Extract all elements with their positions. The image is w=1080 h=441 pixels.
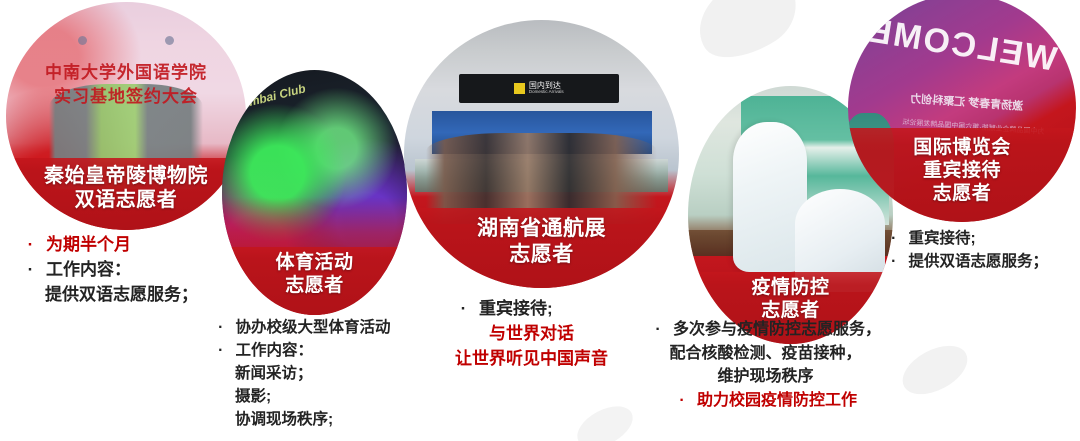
backdrop-line-2: 实习基地签约大会 (25, 85, 227, 108)
bullet-dot-icon: · (455, 296, 472, 321)
expo-slogan-text: 激扬青春梦 汇聚科创力 (880, 88, 1054, 116)
slide-canvas: 中南大学外国语学院 实习基地签约大会 秦始皇帝陵博物院 双语志愿者 Cambai… (0, 0, 1080, 441)
bullet-item: · 多次参与疫情防控志愿服务， (650, 318, 881, 342)
bubble-caption-hunan-expo: 湖南省通航展 志愿者 (404, 208, 679, 288)
bubble-caption-international-expo: 国际博览会 重宾接待 志愿者 (848, 128, 1076, 222)
photo-bubble-international-expo: WELCOME 激扬青春梦 汇聚科创力 为中国品牌企业赋能·第六届中国品牌发展论… (848, 0, 1076, 222)
caption-line-2: 重宾接待 (850, 159, 1074, 182)
bullet-dot-icon: · (650, 318, 666, 342)
backdrop-line-1: 中南大学外国语学院 (25, 61, 227, 84)
bullet-subtext: 维护现场秩序 (650, 365, 881, 389)
bullet-text: 多次参与疫情防控志愿服务， (673, 318, 881, 342)
bullet-block-hunan-expo: · 重宾接待; 与世界对话 让世界听见中国声音 (455, 296, 608, 371)
bullet-dot-icon: · (22, 232, 39, 257)
bullet-item: · 助力校园疫情防控工作 (650, 389, 881, 413)
airport-signboard: 国内到达 Domestic Arrivals (459, 74, 619, 103)
bullet-text: 重宾接待; (479, 296, 553, 321)
bullet-item: · 重宾接待; (455, 296, 608, 321)
bullet-text: 工作内容： (236, 340, 314, 363)
bullet-item: · 协办校级大型体育活动 (213, 317, 391, 340)
bullet-subtext: 新闻采访； (213, 363, 391, 386)
bullet-item: · 工作内容： (22, 257, 198, 282)
bullet-subtext: 提供双语志愿服务； (22, 282, 198, 307)
caption-line-1: 体育活动 (224, 251, 405, 274)
bullet-block-qin-museum: · 为期半个月 · 工作内容： 提供双语志愿服务； (22, 232, 198, 307)
bullet-text: 提供双语志愿服务； (909, 251, 1049, 274)
bullet-text: 为期半个月 (46, 232, 131, 257)
highlight-line: 让世界听见中国声音 (455, 346, 608, 371)
photo-bubble-qin-museum: 中南大学外国语学院 实习基地签约大会 秦始皇帝陵博物院 双语志愿者 (6, 2, 246, 230)
bullet-text: 重宾接待; (909, 228, 976, 251)
logo-qin-museum (78, 36, 87, 45)
backdrop-banner-text: 中南大学外国语学院 实习基地签约大会 (25, 61, 227, 108)
decorative-blob-top (684, 0, 810, 75)
caption-line-2: 双语志愿者 (8, 188, 244, 212)
caption-line-2: 志愿者 (224, 274, 405, 297)
caption-line-2: 志愿者 (406, 242, 677, 268)
photo-bubble-hunan-expo: 国内到达 Domestic Arrivals 湖南省通航展 志愿者 (404, 20, 679, 288)
bullet-item: · 重宾接待; (886, 228, 1048, 251)
backdrop-logos (40, 36, 213, 45)
logo-mark-icon (78, 36, 87, 45)
bullet-dot-icon: · (213, 317, 229, 340)
caption-line-1: 疫情防控 (690, 276, 891, 299)
bullet-dot-icon: · (213, 340, 229, 363)
bullet-item: · 提供双语志愿服务； (886, 251, 1048, 274)
sign-pictogram-icon (514, 83, 525, 94)
highlight-line: 与世界对话 (455, 321, 608, 346)
bullet-block-international-expo: · 重宾接待; · 提供双语志愿服务； (886, 228, 1048, 274)
bullet-dot-icon: · (674, 389, 690, 413)
photo-bubble-sports-event: Cambai Club 体育活动 志愿者 (222, 70, 407, 315)
sign-text: 国内到达 Domestic Arrivals (529, 82, 564, 95)
bullet-dot-icon: · (22, 257, 39, 282)
bullet-subtext: 配合核酸检测、疫苗接种， (650, 342, 881, 366)
bullet-subtext: 协调现场秩序; (213, 409, 391, 432)
bullet-text: 工作内容： (46, 257, 131, 282)
logo-mark-icon (165, 36, 174, 45)
bullet-text: 助力校园疫情防控工作 (697, 389, 857, 413)
bullet-dot-icon: · (886, 251, 902, 274)
bullet-text: 协办校级大型体育活动 (236, 317, 391, 340)
welcome-backdrop-text: WELCOME (864, 11, 1059, 79)
decorative-blob-right (895, 336, 976, 404)
bubble-caption-qin-museum: 秦始皇帝陵博物院 双语志愿者 (6, 158, 246, 230)
caption-line-3: 志愿者 (850, 182, 1074, 205)
bubble-caption-sports-event: 体育活动 志愿者 (222, 247, 407, 315)
caption-line-1: 国际博览会 (850, 136, 1074, 159)
bullet-item: · 工作内容： (213, 340, 391, 363)
caption-line-1: 秦始皇帝陵博物院 (8, 164, 244, 188)
logo-csu (165, 36, 174, 45)
bullet-block-sports-event: · 协办校级大型体育活动 · 工作内容： 新闻采访； 摄影; 协调现场秩序; (213, 317, 391, 432)
bullet-item: · 为期半个月 (22, 232, 198, 257)
sign-text-en: Domestic Arrivals (529, 90, 564, 95)
bullet-subtext: 摄影; (213, 386, 391, 409)
bullet-block-epidemic: · 多次参与疫情防控志愿服务， 配合核酸检测、疫苗接种， 维护现场秩序 · 助力… (650, 318, 881, 413)
bullet-dot-icon: · (886, 228, 902, 251)
caption-line-1: 湖南省通航展 (406, 216, 677, 242)
decorative-blob-bottom (571, 398, 640, 441)
